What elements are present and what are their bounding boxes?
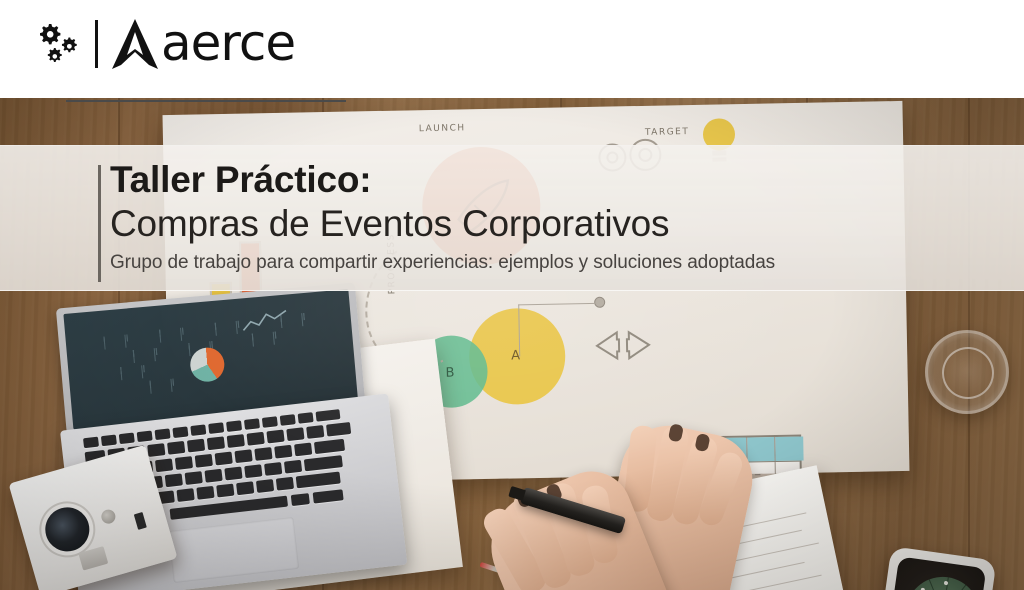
logo-underline (66, 100, 346, 102)
page-subtitle: Grupo de trabajo para compartir experien… (110, 251, 775, 275)
page-title: Compras de Eventos Corporativos (110, 202, 669, 246)
aerce-arrow-mark-icon (109, 18, 161, 70)
page-root: aerce A B (0, 0, 1024, 590)
title-band: Taller Práctico: Compras de Eventos Corp… (0, 145, 1024, 291)
title-eyebrow: Taller Práctico: (110, 158, 371, 202)
logo-divider (95, 20, 98, 68)
aerce-logo[interactable]: aerce (33, 16, 323, 82)
site-header: aerce (0, 0, 1024, 98)
logo-wordmark: aerce (161, 15, 295, 71)
title-accent-rule (98, 165, 101, 282)
gears-icon (33, 22, 85, 66)
